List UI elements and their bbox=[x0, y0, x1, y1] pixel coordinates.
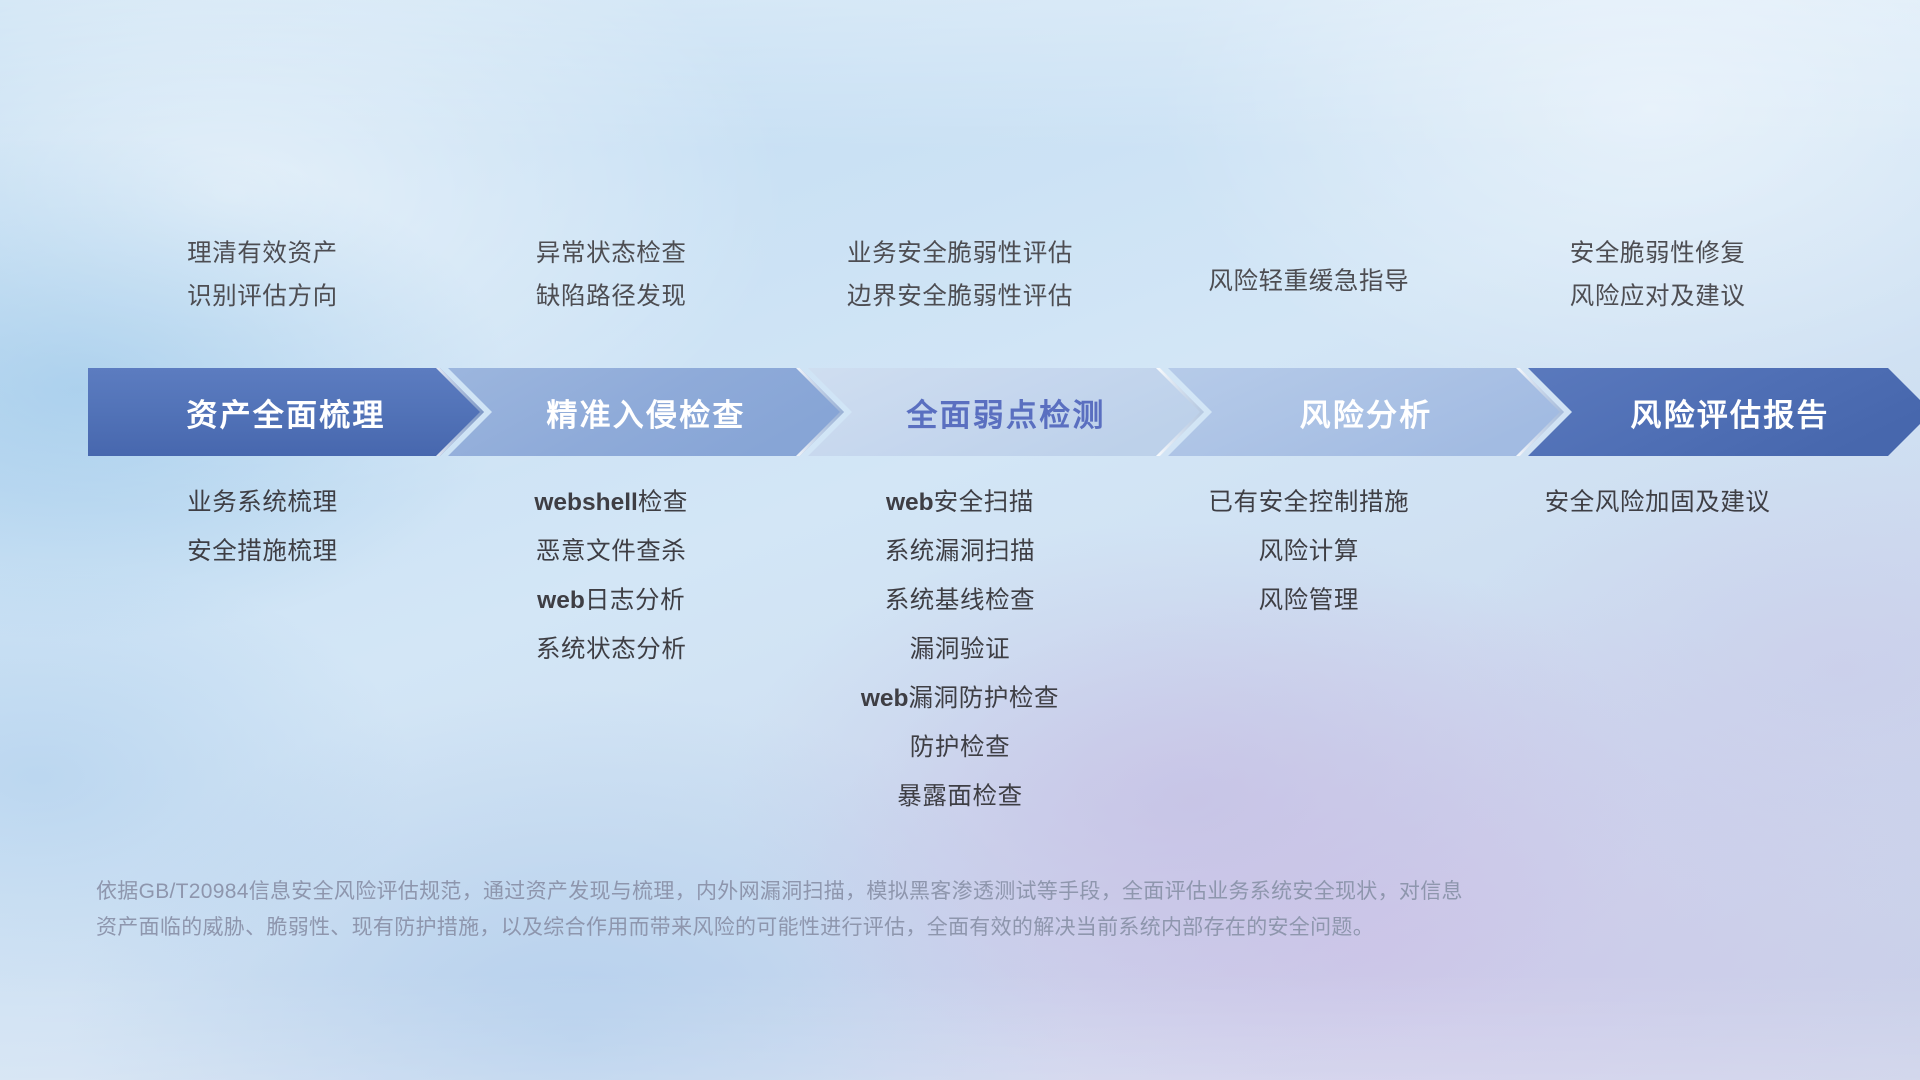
lower-label: webshell检查 bbox=[437, 478, 786, 527]
process-stage-4[interactable]: 风险分析 bbox=[1168, 368, 1564, 456]
upper-label: 理清有效资产 bbox=[88, 232, 437, 275]
lower-column-5: 安全风险加固及建议 bbox=[1483, 478, 1832, 527]
upper-label: 风险轻重缓急指导 bbox=[1134, 260, 1483, 303]
lower-label: 安全措施梳理 bbox=[88, 527, 437, 576]
lower-label: 系统漏洞扫描 bbox=[786, 527, 1135, 576]
upper-column-1: 理清有效资产 识别评估方向 bbox=[88, 232, 437, 318]
upper-label-row: 理清有效资产 识别评估方向 异常状态检查 缺陷路径发现 业务安全脆弱性评估 边界… bbox=[88, 232, 1832, 318]
lower-label: 暴露面检查 bbox=[786, 772, 1135, 821]
lower-label: 风险计算 bbox=[1134, 527, 1483, 576]
lower-label: 风险管理 bbox=[1134, 576, 1483, 625]
lower-label-text: 安全扫描 bbox=[934, 489, 1034, 516]
footer-line-2: 资产面临的威胁、脆弱性、现有防护措施，以及综合作用而带来风险的可能性进行评估，全… bbox=[96, 910, 1656, 946]
lower-label: 安全风险加固及建议 bbox=[1483, 478, 1832, 527]
lower-label-text: 漏洞防护检查 bbox=[909, 685, 1060, 712]
lower-label: 恶意文件查杀 bbox=[437, 527, 786, 576]
process-stage-label: 风险分析 bbox=[1300, 390, 1433, 435]
lower-label-emphasis: web bbox=[861, 685, 909, 712]
lower-label: web漏洞防护检查 bbox=[786, 674, 1135, 723]
lower-label-emphasis: web bbox=[886, 489, 934, 516]
lower-label: web日志分析 bbox=[437, 576, 786, 625]
upper-label: 识别评估方向 bbox=[88, 275, 437, 318]
lower-label: 已有安全控制措施 bbox=[1134, 478, 1483, 527]
process-stage-label: 资产全面梳理 bbox=[186, 390, 385, 435]
upper-label: 业务安全脆弱性评估 bbox=[786, 232, 1135, 275]
lower-label: 业务系统梳理 bbox=[88, 478, 437, 527]
upper-column-4: 风险轻重缓急指导 bbox=[1134, 232, 1483, 303]
footer-line-1: 依据GB/T20984信息安全风险评估规范，通过资产发现与梳理，内外网漏洞扫描，… bbox=[96, 874, 1656, 910]
upper-column-5: 安全脆弱性修复 风险应对及建议 bbox=[1483, 232, 1832, 318]
upper-label: 安全脆弱性修复 bbox=[1483, 232, 1832, 275]
lower-column-2: webshell检查 恶意文件查杀 web日志分析 系统状态分析 bbox=[437, 478, 786, 674]
process-stage-label: 精准入侵检查 bbox=[546, 390, 745, 435]
process-stage-label: 全面弱点检测 bbox=[906, 390, 1105, 435]
upper-column-2: 异常状态检查 缺陷路径发现 bbox=[437, 232, 786, 318]
lower-column-4: 已有安全控制措施 风险计算 风险管理 bbox=[1134, 478, 1483, 625]
slide-canvas: 理清有效资产 识别评估方向 异常状态检查 缺陷路径发现 业务安全脆弱性评估 边界… bbox=[0, 0, 1920, 1080]
lower-label: 防护检查 bbox=[786, 723, 1135, 772]
lower-label-text: 日志分析 bbox=[585, 587, 685, 614]
process-stage-label: 风险评估报告 bbox=[1630, 390, 1829, 435]
lower-label-emphasis: web bbox=[537, 587, 585, 614]
lower-label: 漏洞验证 bbox=[786, 625, 1135, 674]
lower-column-3: web安全扫描 系统漏洞扫描 系统基线检查 漏洞验证 web漏洞防护检查 防护检… bbox=[786, 478, 1135, 821]
lower-label-row: 业务系统梳理 安全措施梳理 webshell检查 恶意文件查杀 web日志分析 … bbox=[88, 478, 1832, 821]
process-chevron-band: 资产全面梳理 bbox=[88, 368, 1832, 456]
lower-label: 系统状态分析 bbox=[437, 625, 786, 674]
lower-column-1: 业务系统梳理 安全措施梳理 bbox=[88, 478, 437, 576]
upper-column-3: 业务安全脆弱性评估 边界安全脆弱性评估 bbox=[786, 232, 1135, 318]
upper-label: 缺陷路径发现 bbox=[437, 275, 786, 318]
process-stage-1[interactable]: 资产全面梳理 bbox=[88, 368, 484, 456]
upper-label: 边界安全脆弱性评估 bbox=[786, 275, 1135, 318]
lower-label-text: 检查 bbox=[638, 489, 688, 516]
diagram-content: 理清有效资产 识别评估方向 异常状态检查 缺陷路径发现 业务安全脆弱性评估 边界… bbox=[0, 0, 1920, 1080]
upper-label: 风险应对及建议 bbox=[1483, 275, 1832, 318]
process-stage-2[interactable]: 精准入侵检查 bbox=[448, 368, 844, 456]
process-stage-3[interactable]: 全面弱点检测 bbox=[808, 368, 1204, 456]
lower-label: 系统基线检查 bbox=[786, 576, 1135, 625]
lower-label: web安全扫描 bbox=[786, 478, 1135, 527]
footer-description: 依据GB/T20984信息安全风险评估规范，通过资产发现与梳理，内外网漏洞扫描，… bbox=[96, 874, 1656, 946]
lower-label-emphasis: webshell bbox=[534, 489, 637, 516]
process-stage-5[interactable]: 风险评估报告 bbox=[1528, 368, 1920, 456]
upper-label: 异常状态检查 bbox=[437, 232, 786, 275]
